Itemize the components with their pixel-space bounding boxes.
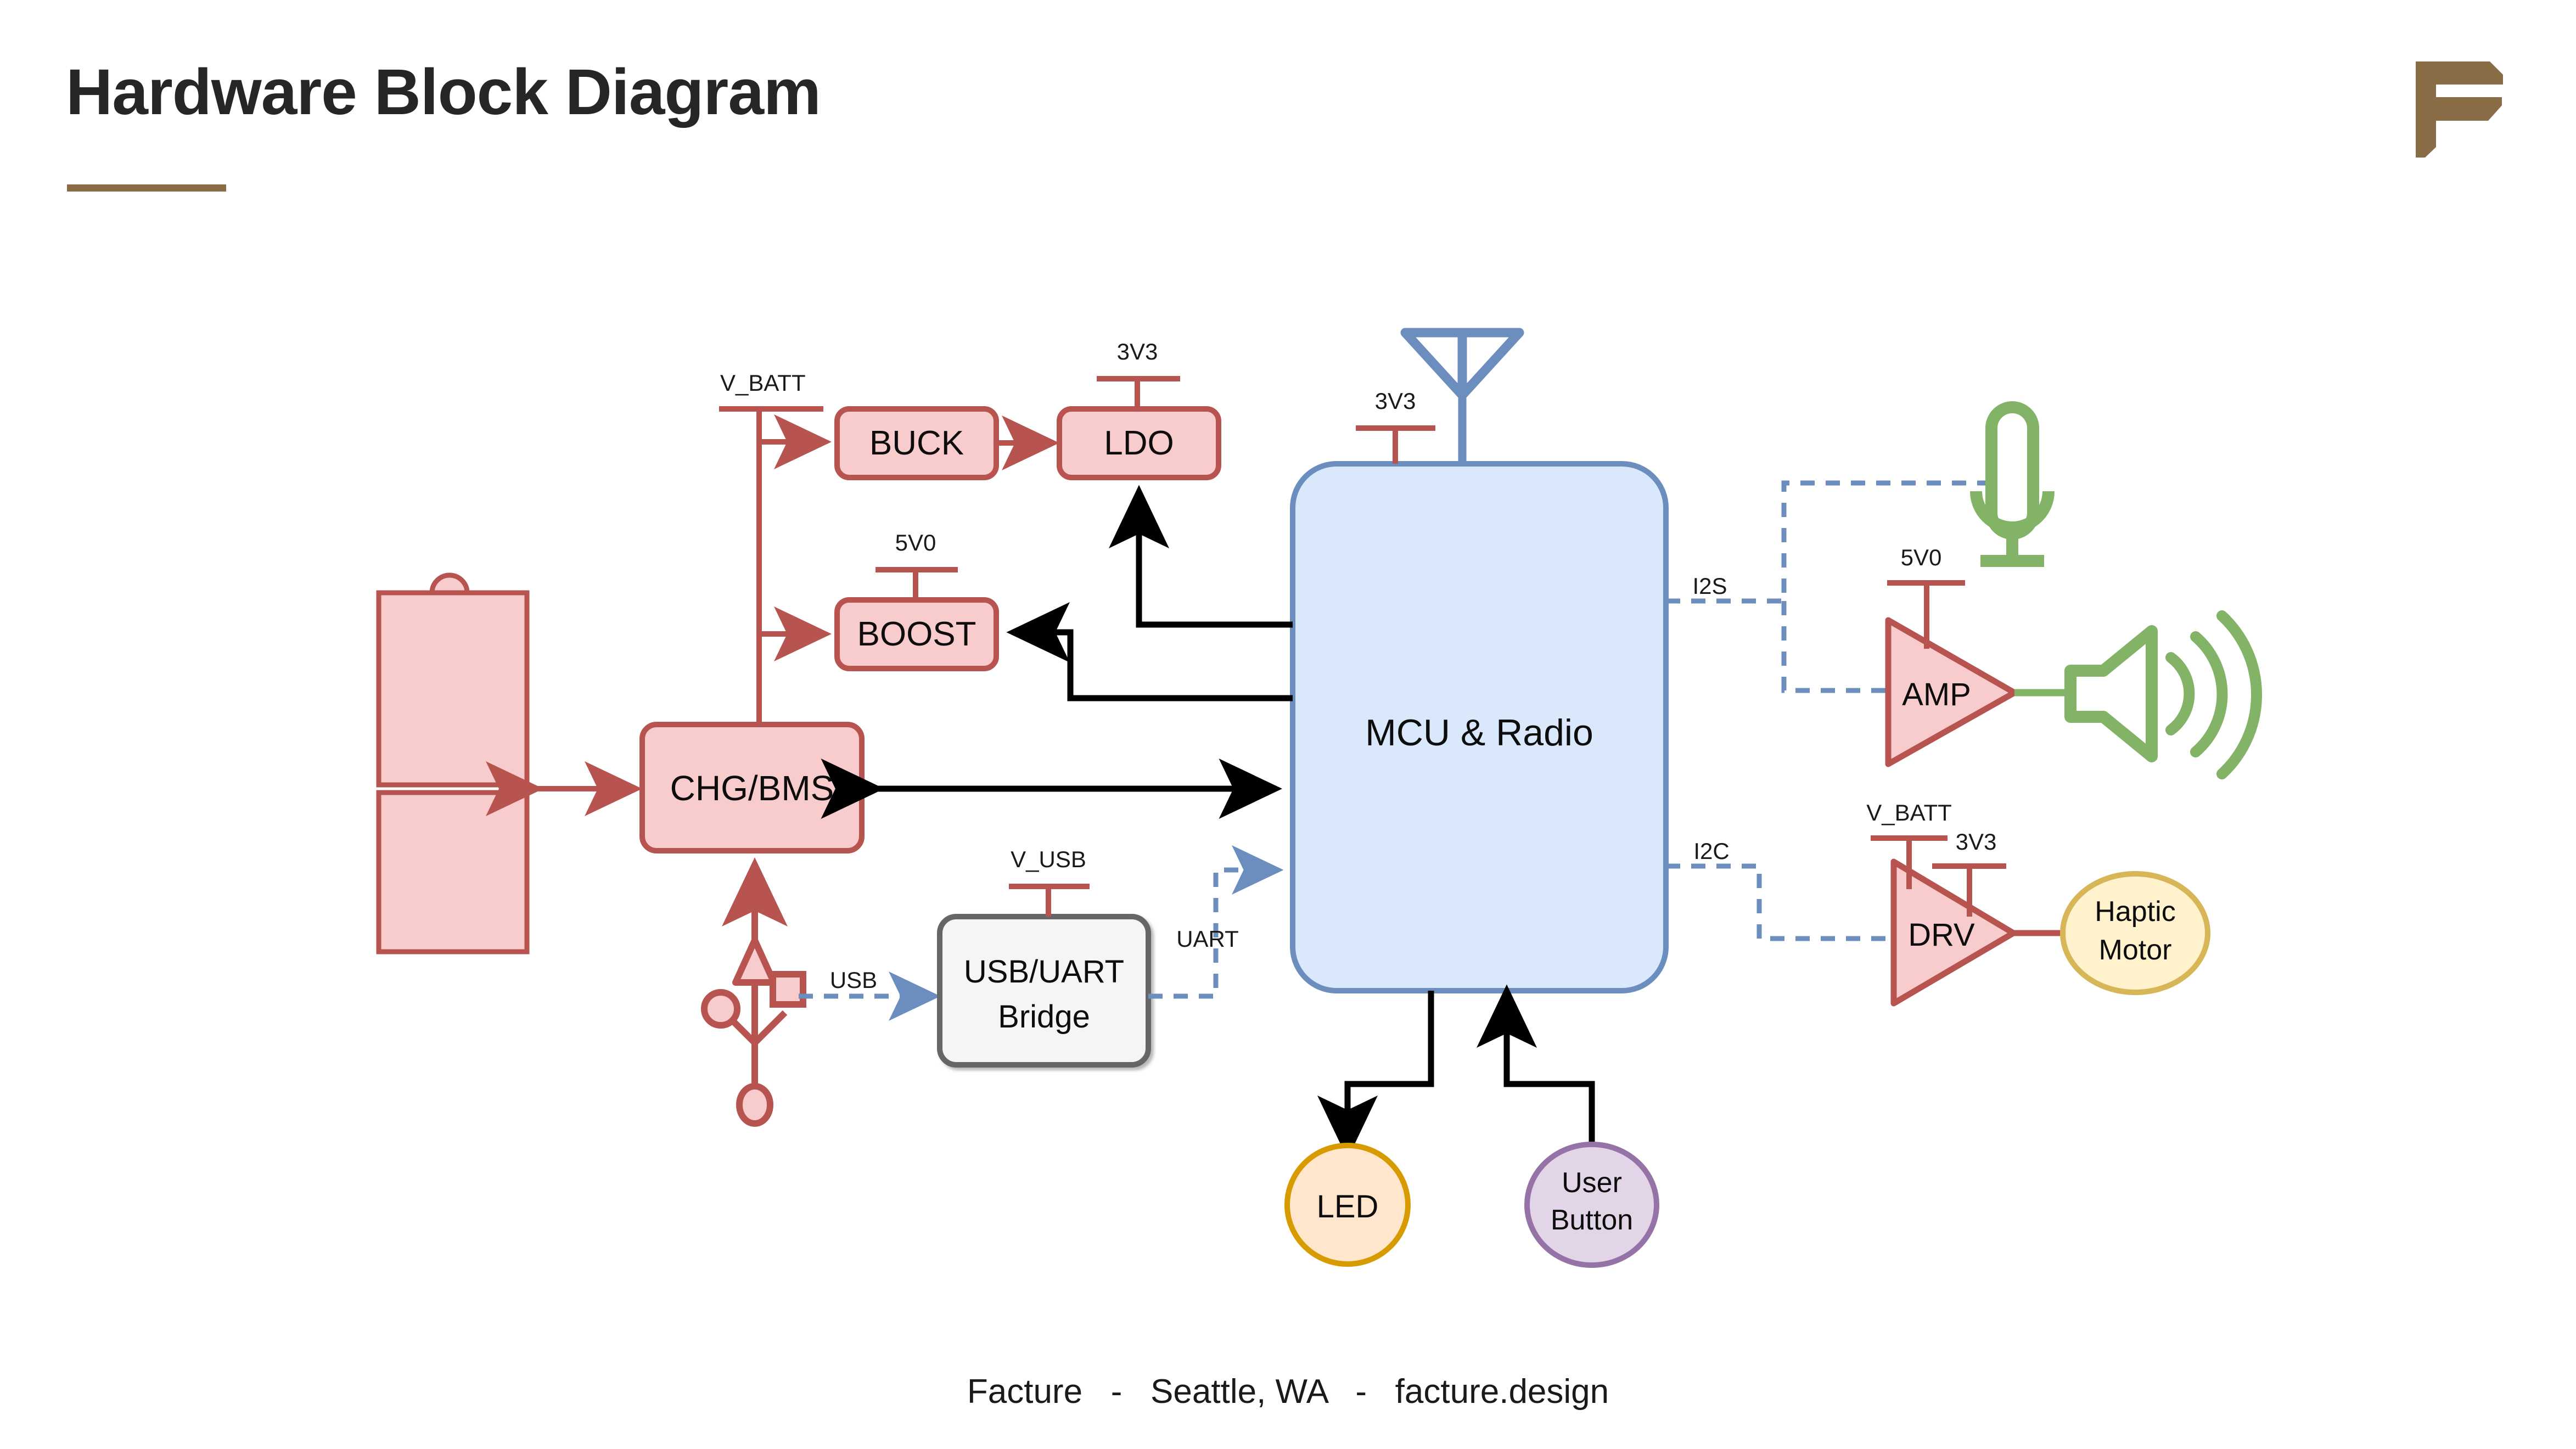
net-3v3-drv-label: 3V3 xyxy=(1956,829,1997,855)
bus-i2c: I2C xyxy=(1666,838,1891,939)
mcu-radio-block[interactable]: MCU & Radio xyxy=(1293,464,1666,991)
boost-label: BOOST xyxy=(857,615,976,653)
user-button-label-2: Button xyxy=(1551,1204,1633,1236)
drv-label: DRV xyxy=(1908,917,1975,953)
net-5v0-boost: 5V0 xyxy=(875,530,958,600)
led-label: LED xyxy=(1317,1189,1379,1225)
usb-uart-bridge-label-2: Bridge xyxy=(998,999,1090,1035)
bus-usb: USB xyxy=(799,967,933,996)
microphone-icon xyxy=(1976,407,2049,561)
net-v-batt-label: V_BATT xyxy=(720,370,806,396)
antenna-icon xyxy=(1405,333,1519,464)
net-5v0-amp-label: 5V0 xyxy=(1901,544,1942,570)
edge-mcu-boost xyxy=(1015,632,1293,698)
hardware-block-diagram: V_BATT BUCK LDO 3V3 BOOST 5V0 xyxy=(0,0,2576,1449)
bus-uart-label: UART xyxy=(1176,926,1239,952)
edge-mcu-led xyxy=(1348,991,1431,1150)
net-v-batt-drv-label: V_BATT xyxy=(1866,800,1952,825)
buck-block[interactable]: BUCK xyxy=(837,409,996,478)
boost-block[interactable]: BOOST xyxy=(837,600,996,669)
usb-uart-bridge[interactable]: USB/UART Bridge xyxy=(940,917,1148,1065)
net-3v3-ldo: 3V3 xyxy=(1097,339,1180,409)
net-3v3-ldo-label: 3V3 xyxy=(1117,339,1158,364)
user-button-node[interactable]: User Button xyxy=(1527,1144,1657,1265)
usb-connector-icon xyxy=(704,867,803,1124)
net-v-usb: V_USB xyxy=(1009,846,1090,917)
buck-label: BUCK xyxy=(869,424,964,462)
haptic-motor-label-1: Haptic xyxy=(2095,896,2175,928)
bus-i2c-label: I2C xyxy=(1693,838,1729,864)
chg-bms-label: CHG/BMS xyxy=(670,768,834,808)
net-v-batt: V_BATT xyxy=(719,370,823,755)
user-button-label-1: User xyxy=(1562,1167,1622,1199)
slide-canvas: Hardware Block Diagram Facture - Seattle… xyxy=(0,0,2576,1449)
amp-label: AMP xyxy=(1902,677,1971,712)
haptic-motor-label-2: Motor xyxy=(2099,934,2172,966)
net-5v0-boost-label: 5V0 xyxy=(895,530,936,555)
mcu-radio-label: MCU & Radio xyxy=(1365,712,1593,754)
chg-bms-block[interactable]: CHG/BMS xyxy=(642,724,862,851)
bus-usb-label: USB xyxy=(830,967,877,993)
led-node[interactable]: LED xyxy=(1287,1145,1408,1264)
speaker-icon xyxy=(2014,616,2257,774)
edge-button-mcu xyxy=(1507,993,1592,1150)
usb-uart-bridge-label-1: USB/UART xyxy=(964,954,1124,990)
battery-cell[interactable] xyxy=(379,575,527,952)
amp-block[interactable]: AMP xyxy=(1888,620,2014,764)
edge-mcu-ldo xyxy=(1139,494,1293,625)
net-v-batt-drv: V_BATT xyxy=(1866,800,1952,889)
ldo-block[interactable]: LDO xyxy=(1059,409,1219,478)
net-3v3-mcu-label: 3V3 xyxy=(1375,388,1416,414)
net-v-usb-label: V_USB xyxy=(1011,846,1086,872)
net-3v3-mcu: 3V3 xyxy=(1356,388,1435,464)
bus-i2s-label: I2S xyxy=(1692,573,1727,599)
ldo-label: LDO xyxy=(1104,424,1174,462)
bus-uart: UART xyxy=(1148,870,1276,996)
haptic-motor-node[interactable]: Haptic Motor xyxy=(2063,874,2208,992)
